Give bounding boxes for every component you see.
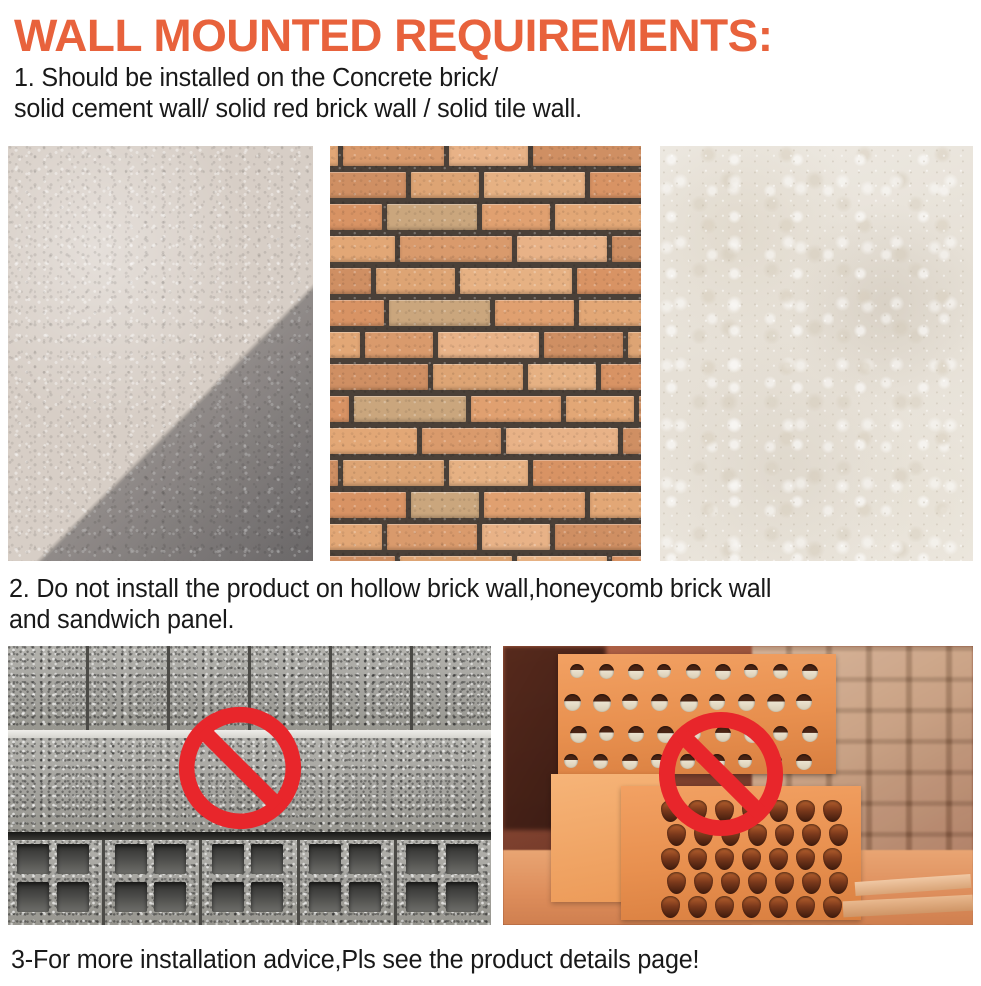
brick <box>330 460 338 486</box>
brick <box>506 428 618 454</box>
hollow-block-photo <box>8 646 491 925</box>
brick-hole <box>721 824 740 846</box>
brick-hole <box>667 824 686 846</box>
requirements-infographic: WALL MOUNTED REQUIREMENTS: 1. Should be … <box>0 0 981 986</box>
block-core <box>212 882 244 912</box>
brick-hole <box>593 694 611 712</box>
brick-hole <box>680 754 695 769</box>
brick-hole <box>796 848 815 870</box>
brick-course <box>330 396 641 422</box>
brick <box>579 300 641 326</box>
brick-hole <box>715 664 731 680</box>
brick <box>330 268 371 294</box>
brick-hole <box>694 824 713 846</box>
brick-hole <box>796 800 815 822</box>
brick-hole <box>686 664 701 679</box>
brick-hole <box>738 694 755 711</box>
block-core <box>446 882 478 912</box>
concrete-speckle <box>413 646 491 732</box>
brick-course <box>330 428 641 454</box>
block-core <box>154 882 186 912</box>
brick-hole <box>694 872 713 894</box>
brick-hole <box>742 896 761 918</box>
brick-hole <box>709 754 725 770</box>
brick-hole <box>661 848 680 870</box>
brick-hole <box>823 800 842 822</box>
block-core <box>17 844 49 874</box>
brick <box>577 268 641 294</box>
brick <box>411 492 479 518</box>
concrete-block <box>89 646 170 732</box>
brick-hole <box>748 824 767 846</box>
block-core <box>251 882 283 912</box>
concrete-block-hollow <box>202 836 299 925</box>
brick-course <box>330 332 641 358</box>
brick-hole <box>661 800 680 822</box>
brick <box>449 460 528 486</box>
brick-hole <box>742 800 761 822</box>
brick <box>482 204 550 230</box>
brick-hole <box>773 664 788 679</box>
brick <box>343 146 444 166</box>
brick-hole <box>622 694 638 710</box>
block-course-bottom <box>8 836 491 925</box>
brick-hole <box>657 664 671 678</box>
brick-hole <box>721 872 740 894</box>
brick-hole <box>657 726 674 743</box>
brick-hole <box>564 754 578 768</box>
brick <box>590 172 641 198</box>
brick <box>544 332 623 358</box>
brick <box>460 268 572 294</box>
brick-hole <box>796 754 812 770</box>
requirement-2-text: 2. Do not install the product on hollow … <box>9 574 966 636</box>
block-core <box>349 882 381 912</box>
concrete-speckle <box>8 738 491 836</box>
brick-hole <box>715 726 731 742</box>
brick <box>590 492 641 518</box>
brick-hole <box>667 872 686 894</box>
honeycomb-brick-photo <box>503 646 973 925</box>
brick-hole <box>769 848 788 870</box>
brick-course <box>330 460 641 486</box>
brick-hole <box>744 664 758 678</box>
brick <box>389 300 490 326</box>
block-core <box>309 882 341 912</box>
block-core <box>57 882 89 912</box>
brick-hole <box>593 754 608 769</box>
perforated-brick-upper <box>558 654 836 774</box>
brick <box>555 524 641 550</box>
brick <box>495 300 574 326</box>
concrete-speckle <box>89 646 167 732</box>
block-shadow-gap <box>8 832 491 840</box>
brick <box>484 172 585 198</box>
block-core <box>57 844 89 874</box>
brick <box>330 146 338 166</box>
brick-course <box>330 146 641 166</box>
brick <box>330 204 382 230</box>
brick-hole <box>802 872 821 894</box>
brick <box>566 396 634 422</box>
brick-hole <box>599 664 614 679</box>
brick-hole <box>738 754 752 768</box>
brick-hole <box>802 824 821 846</box>
brick <box>400 556 512 561</box>
brick <box>330 300 384 326</box>
brick-course <box>330 268 641 294</box>
brick-hole <box>767 694 785 712</box>
brick-hole <box>829 824 848 846</box>
brick-hole <box>796 694 812 710</box>
brick-hole <box>661 896 680 918</box>
brick <box>330 556 395 561</box>
brick <box>330 428 417 454</box>
brick-hole <box>628 726 644 742</box>
tile-speckle-layer <box>660 146 973 561</box>
brick-hole <box>564 694 581 711</box>
brick-hole <box>767 754 782 769</box>
brick-hole <box>715 848 734 870</box>
concrete-block <box>170 646 251 732</box>
brick <box>330 492 406 518</box>
brick <box>484 492 585 518</box>
brick <box>387 204 477 230</box>
brick <box>438 332 539 358</box>
concrete-speckle <box>8 646 86 732</box>
block-core <box>154 844 186 874</box>
block-core <box>446 844 478 874</box>
brick-hole <box>622 754 638 770</box>
brick-hole <box>802 664 818 680</box>
brick-hole <box>680 694 698 712</box>
brick <box>365 332 433 358</box>
brick <box>555 204 641 230</box>
brick-hole <box>748 872 767 894</box>
tile-wall-photo <box>660 146 973 561</box>
block-course-lintel <box>8 738 491 836</box>
brick <box>482 524 550 550</box>
brick-hole <box>715 800 734 822</box>
block-core <box>349 844 381 874</box>
brick <box>387 524 477 550</box>
brick-hole <box>796 896 815 918</box>
brick-hole <box>628 664 644 680</box>
brick <box>612 556 641 561</box>
brick-hole <box>651 754 665 768</box>
brick <box>628 332 641 358</box>
block-core <box>115 844 147 874</box>
brick-wall-photo <box>330 146 641 561</box>
brick <box>422 428 501 454</box>
brick-hole <box>570 726 587 743</box>
cement-wall-photo <box>8 146 313 561</box>
cement-shadow-layer <box>8 146 313 561</box>
requirement-3-text: 3-For more installation advice,Pls see t… <box>11 945 962 976</box>
brick-hole <box>775 872 794 894</box>
brick <box>330 364 428 390</box>
brick-hole <box>599 726 614 741</box>
brick-course <box>330 524 641 550</box>
block-course-top <box>8 646 491 732</box>
concrete-speckle <box>332 646 410 732</box>
brick <box>330 524 382 550</box>
brick <box>433 364 523 390</box>
brick <box>639 396 641 422</box>
brick <box>330 332 360 358</box>
brick-hole <box>688 800 707 822</box>
brick <box>533 146 641 166</box>
brick-hole <box>570 664 584 678</box>
block-core <box>212 844 244 874</box>
brick-hole <box>651 694 668 711</box>
concrete-block-hollow <box>300 836 397 925</box>
concrete-block-hollow <box>397 836 491 925</box>
brick-hole <box>769 800 788 822</box>
brick <box>400 236 512 262</box>
brick-hole <box>802 726 818 742</box>
concrete-block-hollow <box>8 836 105 925</box>
brick <box>471 396 561 422</box>
brick <box>343 460 444 486</box>
brick-course <box>330 300 641 326</box>
brick-course <box>330 236 641 262</box>
brick-course <box>330 204 641 230</box>
brick <box>528 364 596 390</box>
brick-hole <box>829 872 848 894</box>
block-core <box>406 882 438 912</box>
brick <box>354 396 466 422</box>
brick-courses <box>330 146 641 561</box>
brick-hole <box>775 824 794 846</box>
brick-course <box>330 556 641 561</box>
brick-hole <box>769 896 788 918</box>
brick <box>601 364 641 390</box>
concrete-block <box>413 646 491 732</box>
brick <box>533 460 641 486</box>
perforated-brick-lower <box>621 786 861 920</box>
brick <box>330 396 349 422</box>
brick-hole <box>686 726 701 741</box>
brick <box>623 428 641 454</box>
brick <box>612 236 641 262</box>
brick-course <box>330 172 641 198</box>
brick <box>411 172 479 198</box>
brick <box>517 236 607 262</box>
brick <box>517 556 607 561</box>
brick-course <box>330 364 641 390</box>
requirement-1-text: 1. Should be installed on the Concrete b… <box>14 63 960 125</box>
block-core <box>115 882 147 912</box>
brick-hole <box>823 896 842 918</box>
brick-hole <box>773 726 788 741</box>
brick <box>376 268 455 294</box>
concrete-lintel <box>8 738 491 836</box>
brick-hole <box>709 694 725 710</box>
block-core <box>17 882 49 912</box>
brick-hole <box>688 848 707 870</box>
brick-hole <box>688 896 707 918</box>
concrete-block <box>251 646 332 732</box>
concrete-block <box>8 646 89 732</box>
brick-course <box>330 492 641 518</box>
brick-hole <box>823 848 842 870</box>
brick <box>449 146 528 166</box>
block-core <box>406 844 438 874</box>
concrete-speckle <box>251 646 329 732</box>
brick <box>330 172 406 198</box>
brick <box>330 236 395 262</box>
concrete-speckle <box>170 646 248 732</box>
brick-hole <box>715 896 734 918</box>
concrete-block-hollow <box>105 836 202 925</box>
brick-hole <box>744 726 761 743</box>
brick-hole <box>742 848 761 870</box>
block-core <box>251 844 283 874</box>
concrete-block <box>332 646 413 732</box>
block-core <box>309 844 341 874</box>
page-title: WALL MOUNTED REQUIREMENTS: <box>14 12 773 60</box>
